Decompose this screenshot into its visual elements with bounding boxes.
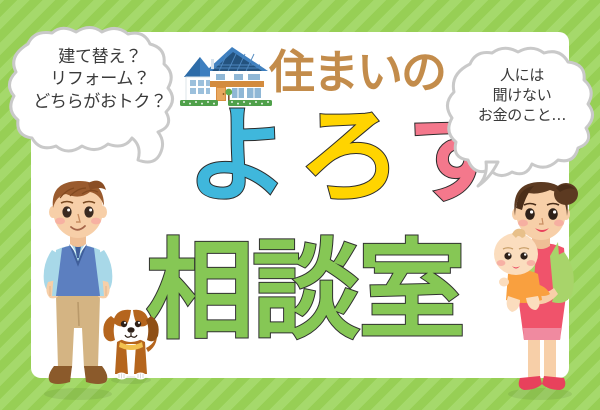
- kana-yo: よ: [186, 104, 298, 208]
- kana-ro: ろ: [298, 104, 410, 208]
- bubble-right-line-2: 聞けない: [452, 86, 592, 106]
- dog-illustration: [100, 300, 162, 386]
- speech-bubble-left-text: 建て替え？ リフォーム？ どちらがおトク？: [10, 46, 190, 113]
- bubble-left-line-2: リフォーム？: [10, 68, 190, 90]
- bubble-left-line-3: どちらがおトク？: [10, 91, 190, 113]
- bubble-left-line-1: 建て替え？: [10, 46, 190, 68]
- headline-subtitle-soudanshitsu: 相談室: [146, 238, 464, 346]
- headline-prefix-sumaino: 住まいの: [269, 49, 445, 95]
- banner-root: 住まいの よろず 相談室 建て替え？ リフォーム？ どちらがおトク？ 人には 聞…: [0, 0, 600, 410]
- woman-with-baby-illustration: [486, 178, 590, 402]
- speech-bubble-right-text: 人には 聞けない お金のこと…: [452, 66, 592, 125]
- bubble-right-line-1: 人には: [452, 66, 592, 86]
- bubble-right-line-3: お金のこと…: [452, 106, 592, 126]
